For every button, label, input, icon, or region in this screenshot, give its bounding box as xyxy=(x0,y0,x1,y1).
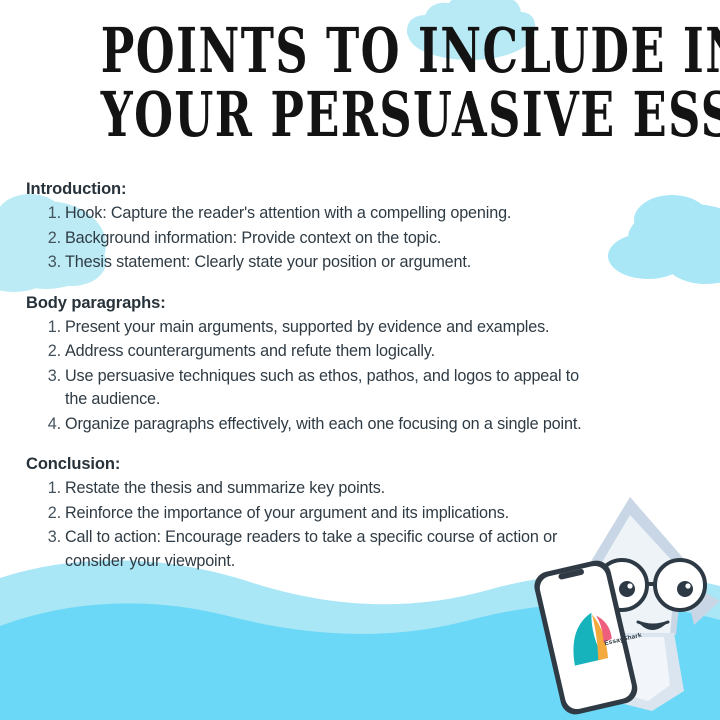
list-item: Background information: Provide context … xyxy=(65,227,586,251)
list-item: Reinforce the importance of your argumen… xyxy=(65,502,586,526)
list-item: Present your main arguments, supported b… xyxy=(65,316,586,340)
cloud-right-icon xyxy=(608,195,720,284)
section-introduction: Introduction: Hook: Capture the reader's… xyxy=(26,178,586,275)
page-title: Points To Include In Your Persuasive Ess… xyxy=(0,20,720,148)
poster-canvas: Points To Include In Your Persuasive Ess… xyxy=(0,0,720,720)
list-item: Thesis statement: Clearly state your pos… xyxy=(65,251,586,275)
section-heading-body-paragraphs: Body paragraphs: xyxy=(26,292,586,314)
list-item: Use persuasive techniques such as ethos,… xyxy=(65,365,586,412)
list-item: Hook: Capture the reader's attention wit… xyxy=(65,202,586,226)
title-line-2: Your Persuasive Essay xyxy=(101,82,619,148)
points-list-conclusion: Restate the thesis and summarize key poi… xyxy=(26,477,586,573)
section-heading-conclusion: Conclusion: xyxy=(26,453,586,475)
section-body-paragraphs: Body paragraphs: Present your main argum… xyxy=(26,292,586,437)
points-list-body-paragraphs: Present your main arguments, supported b… xyxy=(26,316,586,437)
section-conclusion: Conclusion: Restate the thesis and summa… xyxy=(26,453,586,573)
list-item: Restate the thesis and summarize key poi… xyxy=(65,477,586,501)
list-item: Address counterarguments and refute them… xyxy=(65,340,586,364)
title-line-1: Points To Include In xyxy=(101,20,619,82)
list-item: Call to action: Encourage readers to tak… xyxy=(65,526,586,573)
section-heading-introduction: Introduction: xyxy=(26,178,586,200)
list-item: Organize paragraphs effectively, with ea… xyxy=(65,413,586,437)
points-list-introduction: Hook: Capture the reader's attention wit… xyxy=(26,202,586,275)
content-body: Introduction: Hook: Capture the reader's… xyxy=(26,178,586,574)
